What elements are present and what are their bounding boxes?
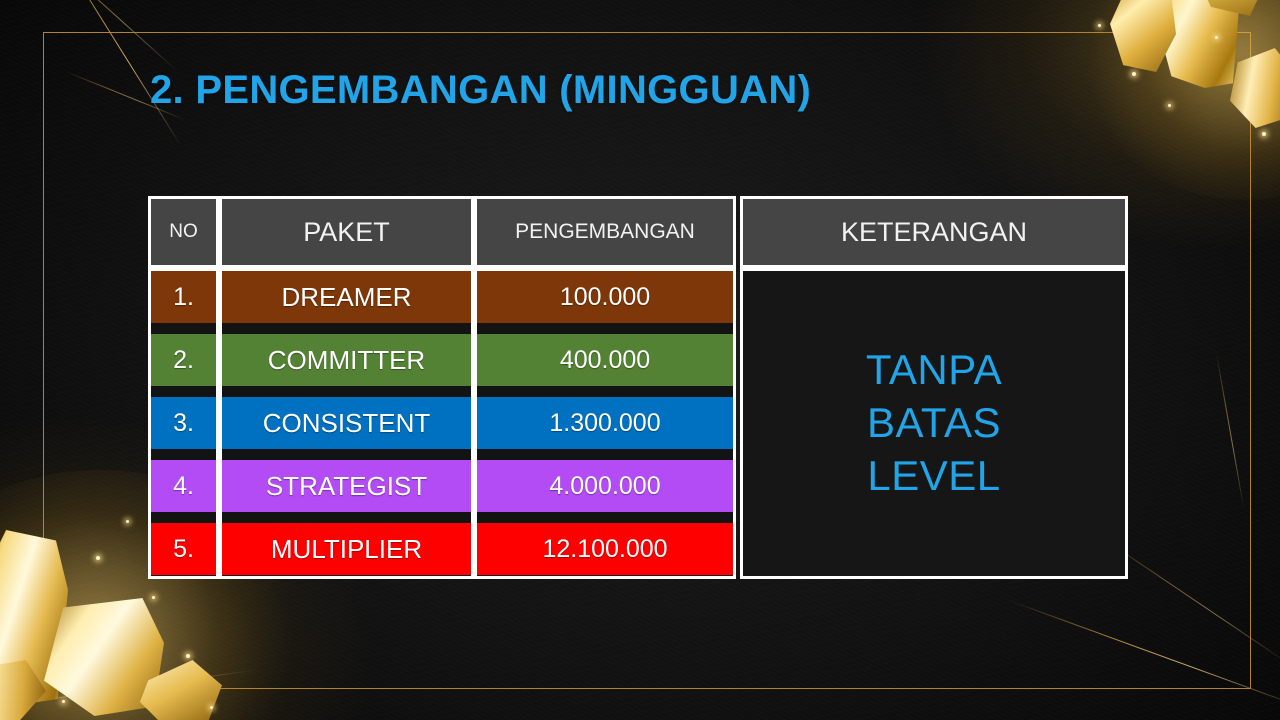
table-row: 100.000 [477, 271, 733, 323]
column-header-keterangan-label: KETERANGAN [841, 217, 1027, 248]
column-header-no-label: NO [169, 221, 198, 243]
sparkle-icon [126, 520, 129, 523]
sparkle-icon [210, 706, 213, 709]
gold-vein [1216, 352, 1245, 510]
table-row: 12.100.000 [477, 523, 733, 575]
gold-crystal-icon [1198, 0, 1270, 16]
column-no: 1. 2. 3. 4. 5. [148, 268, 219, 579]
table-body: 1. 2. 3. 4. 5. DREAMER COMMITTER CONSIST… [148, 268, 1128, 579]
table-row: 400.000 [477, 334, 733, 386]
table-row: 4.000.000 [477, 460, 733, 512]
gold-crystal-icon [1110, 0, 1176, 72]
gold-crystal-icon [1152, 0, 1240, 88]
gold-crystal-icon [0, 660, 46, 720]
gold-vein [43, 0, 177, 71]
gold-crystal-icon [44, 598, 164, 716]
column-header-paket: PAKET [219, 196, 474, 268]
sparkle-icon [96, 556, 100, 560]
sparkle-icon [1098, 24, 1101, 27]
sparkle-icon [1215, 36, 1218, 39]
sparkle-icon [1132, 72, 1136, 76]
gold-glow-top-right [1080, 0, 1280, 200]
keterangan-line-2: BATAS [867, 397, 1001, 450]
sparkle-icon [1262, 132, 1266, 136]
table-row: 1.300.000 [477, 397, 733, 449]
gold-crystal-icon [0, 530, 68, 706]
column-header-paket-label: PAKET [303, 217, 390, 248]
keterangan-line-1: TANPA [866, 344, 1002, 397]
table-row: CONSISTENT [222, 397, 471, 449]
page-title: 2. PENGEMBANGAN (MINGGUAN) [150, 68, 811, 113]
table-row: STRATEGIST [222, 460, 471, 512]
gold-crystal-icon [1230, 48, 1280, 128]
sparkle-icon [1168, 104, 1171, 107]
keterangan-merged-cell: TANPA BATAS LEVEL [743, 271, 1125, 576]
table-header-row: NO PAKET PENGEMBANGAN KETERANGAN [148, 196, 1128, 268]
table-row: 1. [151, 271, 216, 323]
gold-vein [1009, 600, 1280, 711]
sparkle-icon [152, 596, 155, 599]
table-row: 5. [151, 523, 216, 575]
table-row: DREAMER [222, 271, 471, 323]
gold-crystal-icon [140, 660, 222, 720]
column-header-pengembangan-label: PENGEMBANGAN [515, 220, 695, 244]
column-keterangan: TANPA BATAS LEVEL [740, 268, 1128, 579]
column-header-pengembangan: PENGEMBANGAN [474, 196, 736, 268]
pricing-table: NO PAKET PENGEMBANGAN KETERANGAN 1. 2. 3… [148, 196, 1128, 579]
sparkle-icon [186, 654, 190, 658]
table-row: 4. [151, 460, 216, 512]
column-pengembangan: 100.000 400.000 1.300.000 4.000.000 12.1… [474, 268, 736, 579]
keterangan-line-3: LEVEL [867, 450, 1000, 503]
slide-canvas: 2. PENGEMBANGAN (MINGGUAN) NO PAKET PENG… [0, 0, 1280, 720]
column-paket: DREAMER COMMITTER CONSISTENT STRATEGIST … [219, 268, 474, 579]
sparkle-icon [62, 700, 65, 703]
column-header-no: NO [148, 196, 219, 268]
gold-vein [0, 669, 259, 712]
table-row: MULTIPLIER [222, 523, 471, 575]
table-row: 2. [151, 334, 216, 386]
table-row: COMMITTER [222, 334, 471, 386]
column-header-keterangan: KETERANGAN [740, 196, 1128, 268]
table-row: 3. [151, 397, 216, 449]
